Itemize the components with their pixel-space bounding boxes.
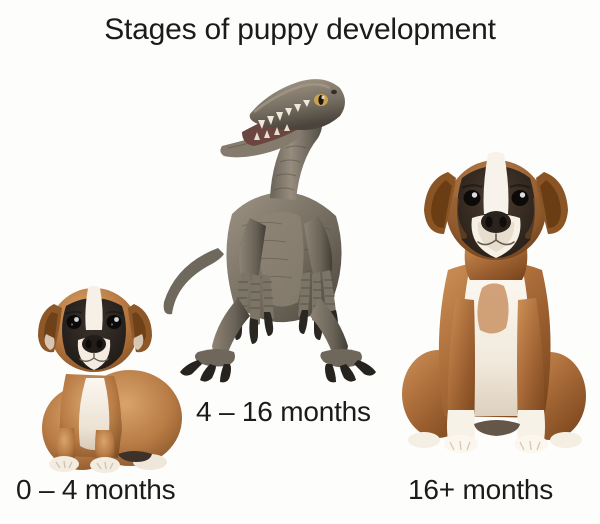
stage-caption-raptor: 4 – 16 months xyxy=(196,396,371,428)
stage-image-raptor xyxy=(158,58,402,398)
stage-caption-puppy: 0 – 4 months xyxy=(16,474,175,506)
meme-image: Stages of puppy development xyxy=(0,0,600,524)
stage-caption-adult: 16+ months xyxy=(408,474,553,506)
stage-image-adult xyxy=(396,148,592,476)
page-title: Stages of puppy development xyxy=(0,12,600,48)
